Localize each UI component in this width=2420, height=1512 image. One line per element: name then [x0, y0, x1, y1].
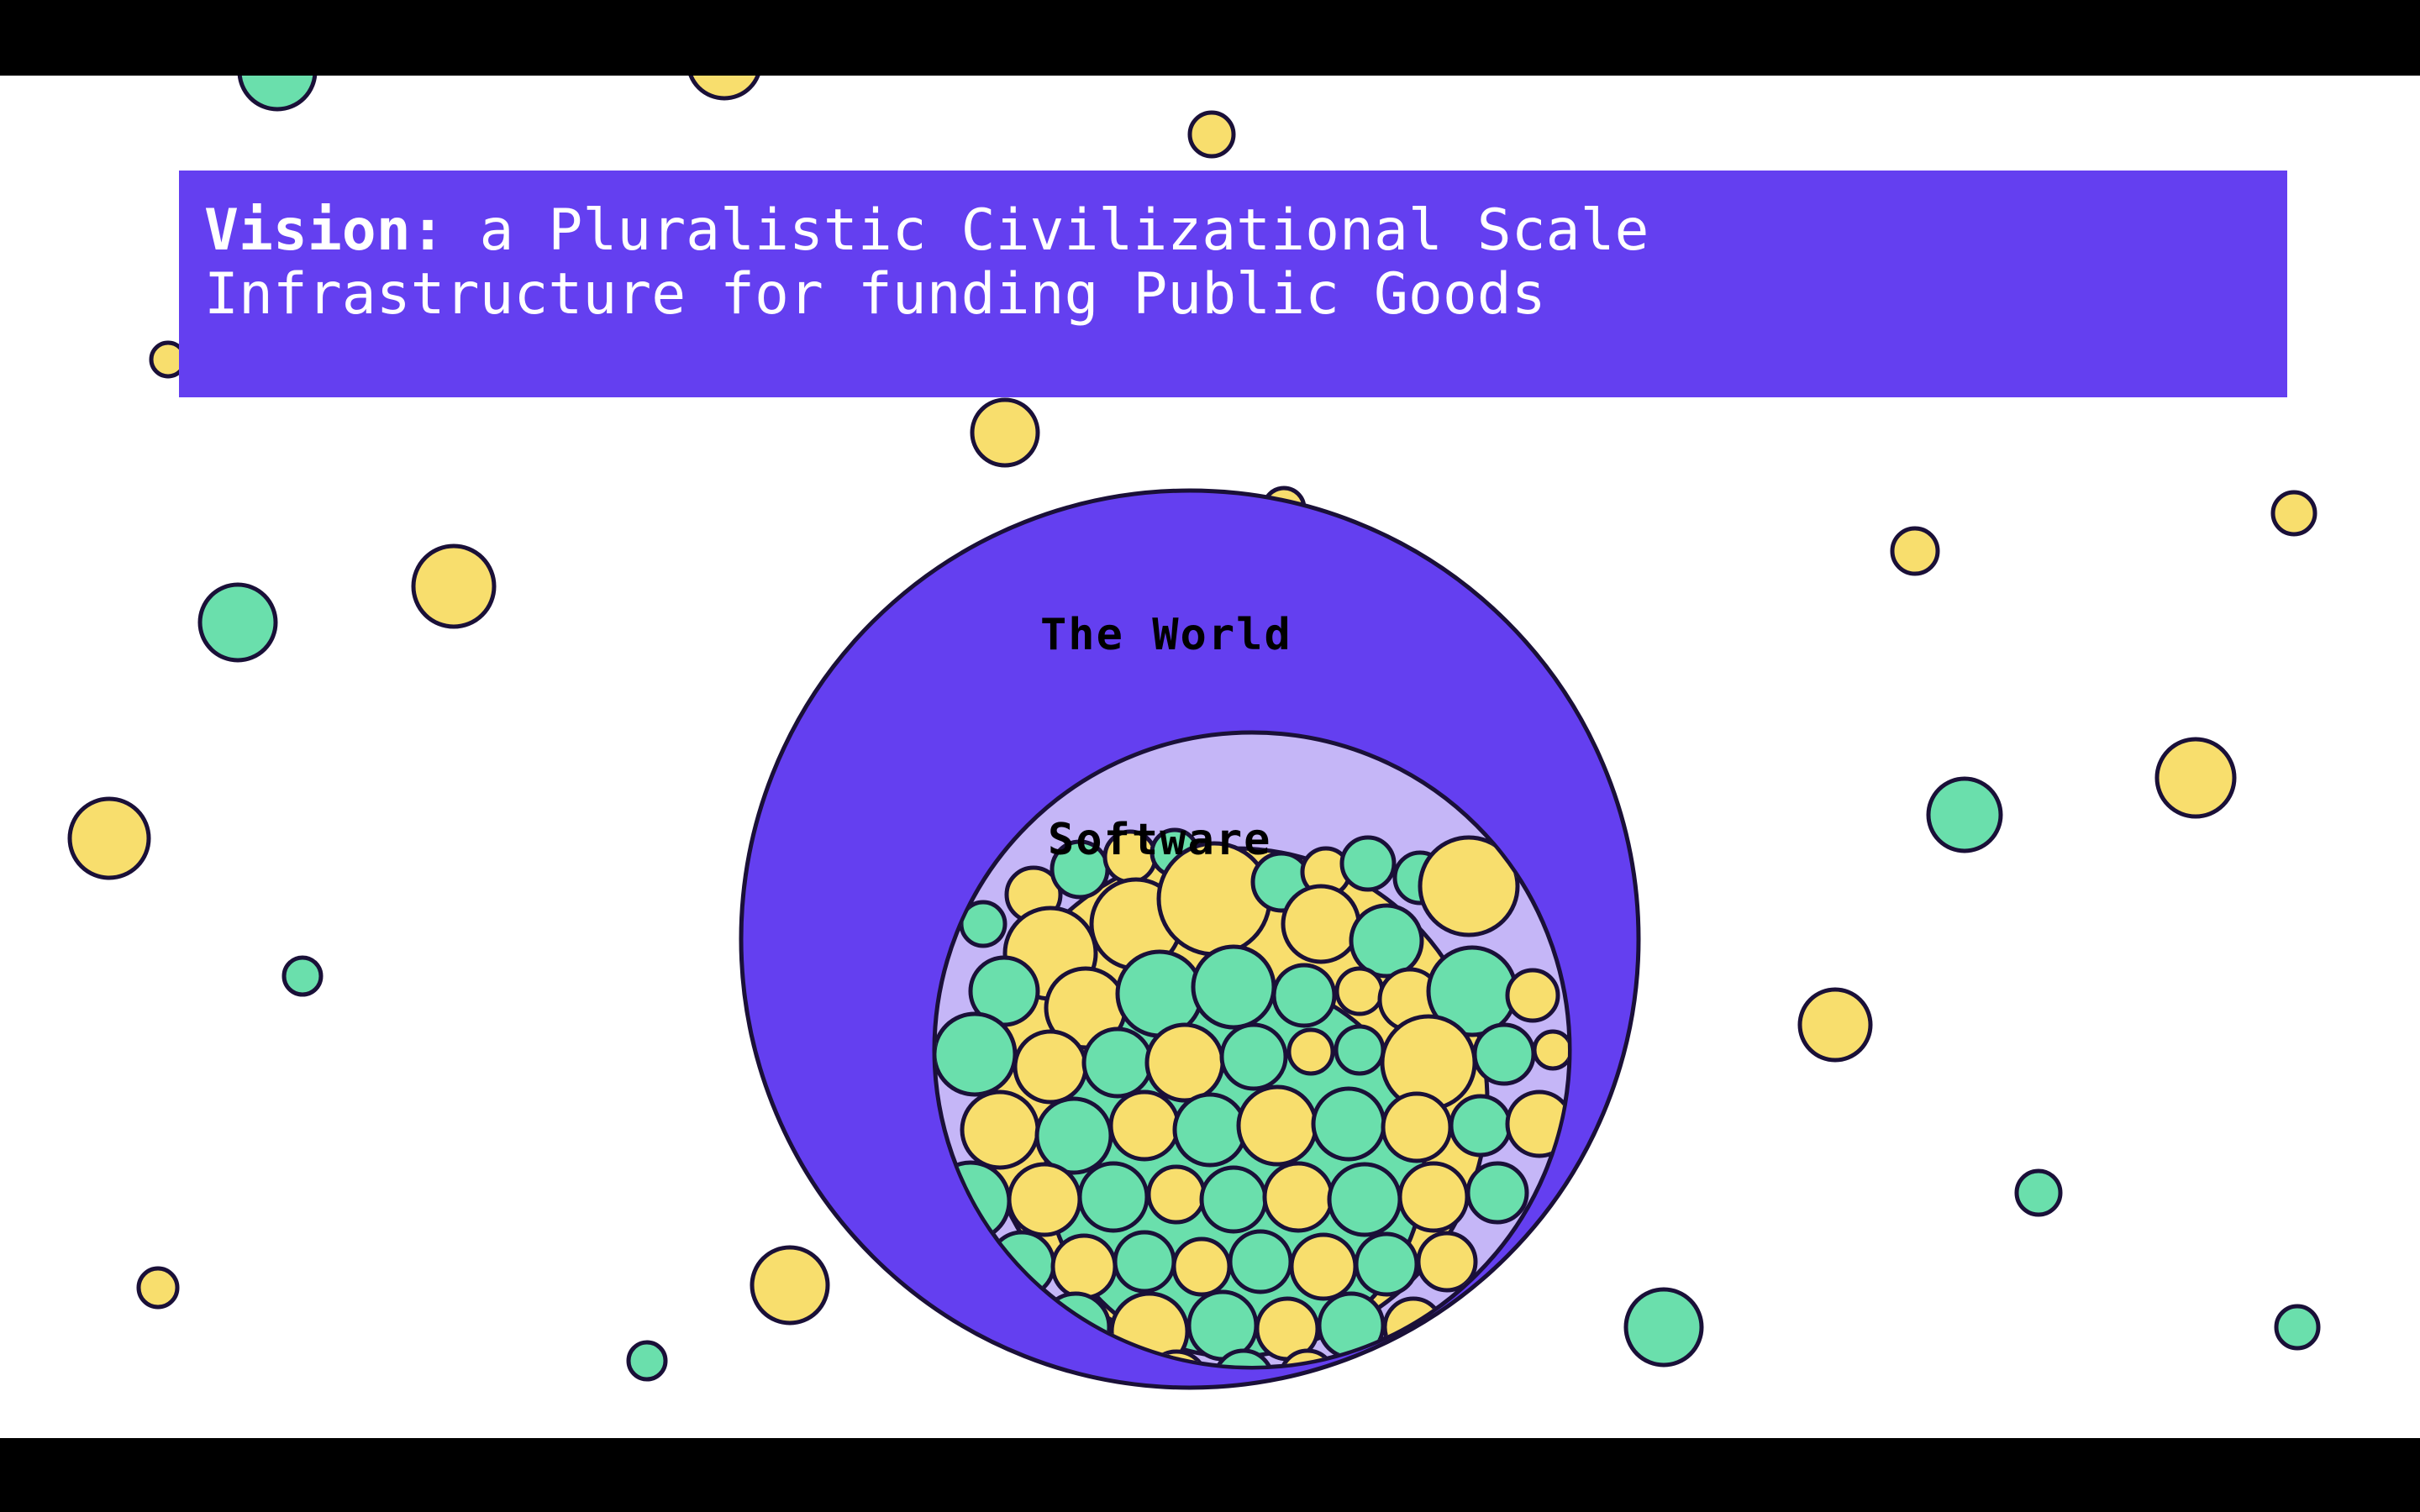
project-bubble — [1283, 886, 1359, 962]
project-bubble — [1174, 1239, 1229, 1294]
project-bubble — [1274, 965, 1334, 1026]
project-bubble — [1265, 1163, 1332, 1231]
project-bubble — [1239, 1087, 1316, 1164]
project-bubble — [1383, 1094, 1450, 1161]
inner-ring-label: Software — [1048, 815, 1271, 865]
letterbox-top — [0, 0, 2420, 76]
project-bubble — [1230, 1231, 1291, 1292]
project-bubble — [1015, 1032, 1086, 1102]
project-bubble — [1329, 1164, 1400, 1235]
slide-content: The World Software Vision: a Pluralistic… — [0, 76, 2420, 1438]
project-bubble — [1342, 837, 1394, 890]
project-bubble — [1193, 947, 1274, 1027]
project-bubble — [1053, 1236, 1115, 1298]
letterbox-bottom — [0, 1438, 2420, 1512]
project-bubble — [1351, 906, 1422, 976]
project-bubble — [1289, 1030, 1333, 1074]
project-bubble — [1202, 1168, 1265, 1231]
project-bubble — [1451, 1096, 1510, 1155]
project-bubble — [1337, 969, 1382, 1014]
project-bubble — [1111, 1092, 1178, 1159]
title-lead: Vision: — [204, 197, 445, 264]
project-bubble — [1336, 1026, 1383, 1074]
project-bubble — [1356, 1234, 1417, 1294]
project-bubble — [1149, 1167, 1204, 1222]
project-bubble — [1534, 1032, 1571, 1068]
title-banner: Vision: a Pluralistic Civilizational Sca… — [179, 171, 2287, 397]
project-bubble — [1175, 1095, 1245, 1165]
outer-ring-label: The World — [1040, 610, 1292, 660]
project-bubble — [1084, 1029, 1151, 1096]
project-bubble — [1507, 970, 1558, 1021]
project-bubble — [1400, 1163, 1467, 1231]
project-bubble — [1313, 1089, 1384, 1159]
project-bubble — [934, 1014, 1015, 1095]
project-bubble — [1080, 1163, 1147, 1231]
project-bubble — [1115, 1232, 1174, 1291]
project-bubble — [1468, 1163, 1527, 1222]
project-bubble — [1009, 1164, 1080, 1235]
project-bubble — [1037, 1099, 1111, 1173]
project-bubble — [962, 1092, 1038, 1168]
project-bubble — [1475, 1025, 1534, 1084]
project-bubble — [1147, 1025, 1223, 1100]
slide-canvas: The World Software Vision: a Pluralistic… — [0, 0, 2420, 1512]
project-bubble — [1222, 1025, 1286, 1089]
page-title: Vision: a Pluralistic Civilizational Sca… — [204, 199, 2287, 327]
project-bubble — [1292, 1235, 1355, 1299]
